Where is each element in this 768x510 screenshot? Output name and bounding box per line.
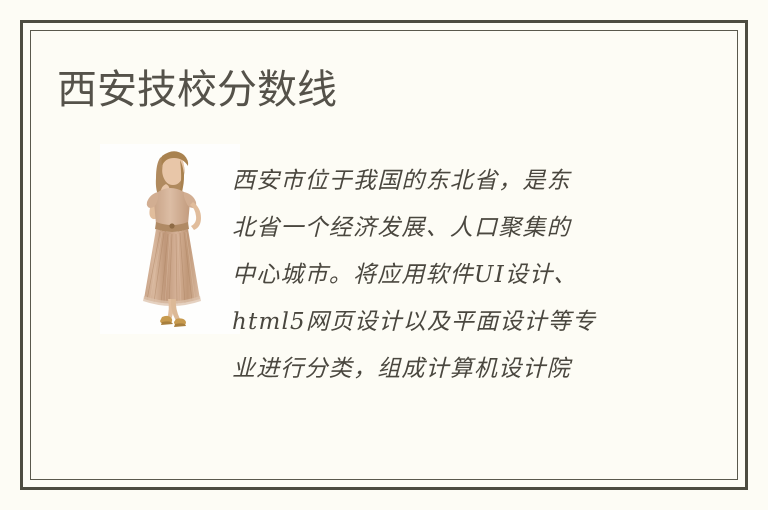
article-image [100, 144, 240, 334]
paragraph-line: 中心城市。将应用软件UI设计、 [232, 252, 652, 299]
page-title: 西安技校分数线 [57, 66, 337, 114]
paragraph-line: html5网页设计以及平面设计等专 [232, 299, 652, 346]
article-content: 西安市位于我国的东北省，是东 北省一个经济发展、人口聚集的 中心城市。将应用软件… [60, 140, 680, 340]
woman-in-dress-illustration [100, 144, 240, 334]
paragraph-line: 北省一个经济发展、人口聚集的 [232, 205, 652, 252]
article-paragraph: 西安市位于我国的东北省，是东 北省一个经济发展、人口聚集的 中心城市。将应用软件… [232, 158, 652, 393]
paragraph-line: 业进行分类，组成计算机设计院 [232, 346, 652, 393]
page-root: 西安技校分数线 [0, 0, 768, 510]
paragraph-line: 西安市位于我国的东北省，是东 [232, 158, 652, 205]
